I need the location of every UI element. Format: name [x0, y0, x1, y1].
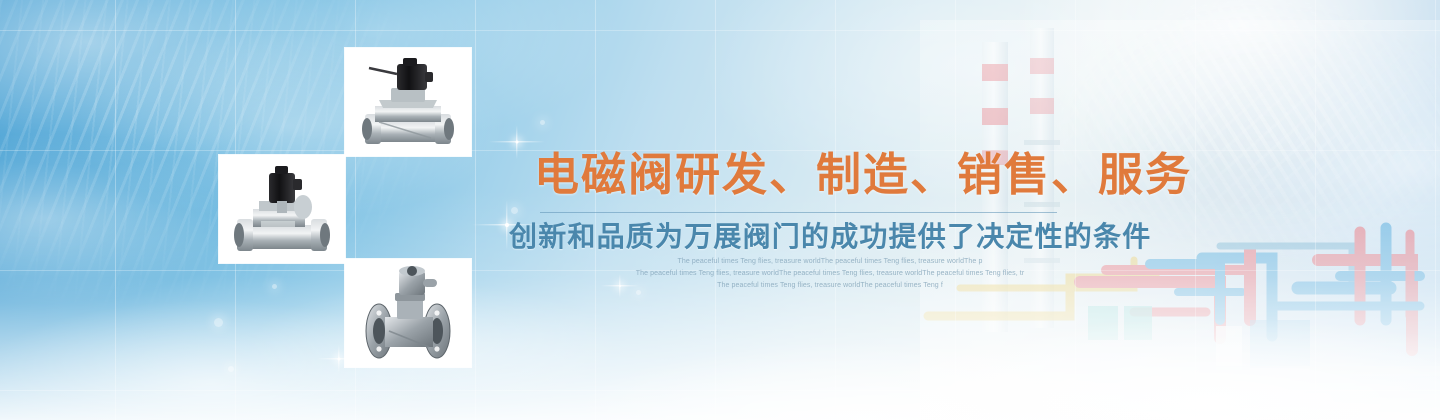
sky-gradient-right [680, 0, 1440, 420]
bokeh-dot-icon [511, 207, 518, 214]
blurb-line-3: The peaceful times Teng flies, treasure … [620, 280, 1040, 292]
banner-blurb: The peaceful times Teng flies, treasure … [620, 256, 1040, 292]
product-thumbnail-solenoid-valve-threaded-inline[interactable] [345, 48, 471, 156]
banner-subheadline: 创新和品质为万展阀门的成功提供了决定性的条件 [509, 220, 1151, 254]
product-thumbnail-solenoid-valve-flanged[interactable] [345, 259, 471, 367]
headline-divider [540, 212, 1057, 213]
grid-overlay [0, 0, 1440, 420]
banner-headline: 电磁阀研发、制造、销售、服务 [534, 152, 1192, 197]
bokeh-dot-icon [214, 318, 223, 327]
bokeh-dot-icon [228, 366, 234, 372]
sky-gradient-left [0, 0, 1440, 420]
bokeh-dot-icon [272, 284, 277, 289]
blurb-line-1: The peaceful times Teng flies, treasure … [620, 256, 1040, 268]
hero-banner: 电磁阀研发、制造、销售、服务 创新和品质为万展阀门的成功提供了决定性的条件 Th… [0, 0, 1440, 420]
product-thumbnail-solenoid-valve-compact[interactable] [219, 155, 345, 263]
blurb-line-2: The peaceful times Teng flies, treasure … [596, 268, 1064, 280]
bokeh-dot-icon [540, 120, 545, 125]
